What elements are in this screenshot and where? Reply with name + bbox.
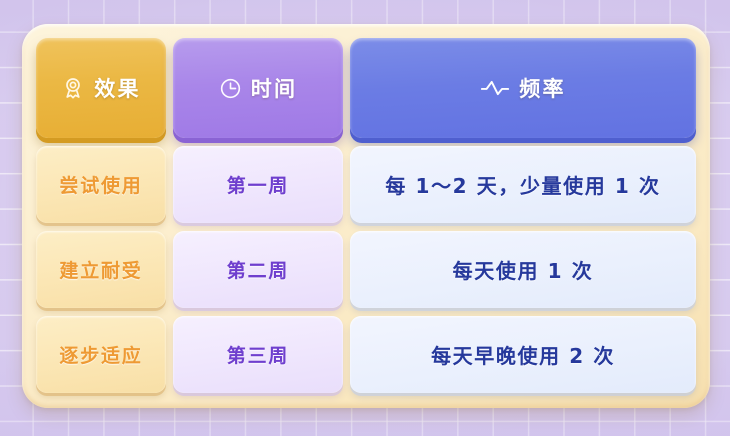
cell-value-time: 第二周 <box>227 256 289 283</box>
header-cell-time[interactable]: 时间 <box>173 38 343 138</box>
cell-value-effect: 尝试使用 <box>59 171 142 198</box>
schedule-table: 效果 时间 频率 尝试使用 第一周 <box>36 38 696 393</box>
cell-effect[interactable]: 建立耐受 <box>36 231 166 308</box>
cell-time[interactable]: 第二周 <box>173 231 343 308</box>
clock-icon <box>219 77 242 100</box>
table-row: 逐步适应 第三周 每天早晚使用 2 次 <box>36 316 696 393</box>
cell-value-time: 第三周 <box>227 341 289 368</box>
cell-frequency[interactable]: 每天使用 1 次 <box>350 231 696 308</box>
cell-value-frequency: 每天早晚使用 2 次 <box>431 340 615 369</box>
cell-frequency[interactable]: 每天早晚使用 2 次 <box>350 316 696 393</box>
cell-value-effect: 建立耐受 <box>59 256 142 283</box>
header-label-time: 时间 <box>251 73 297 103</box>
header-cell-effect[interactable]: 效果 <box>36 38 166 138</box>
cell-value-time: 第一周 <box>227 171 289 198</box>
cell-value-frequency: 每 1～2 天，少量使用 1 次 <box>385 170 660 199</box>
cell-effect[interactable]: 尝试使用 <box>36 146 166 223</box>
cell-time[interactable]: 第三周 <box>173 316 343 393</box>
pulse-wave-icon <box>480 76 510 100</box>
header-label-effect: 效果 <box>94 73 140 103</box>
cell-frequency[interactable]: 每 1～2 天，少量使用 1 次 <box>350 146 696 223</box>
header-label-frequency: 频率 <box>519 73 565 103</box>
cell-value-frequency: 每天使用 1 次 <box>453 255 594 284</box>
cell-effect[interactable]: 逐步适应 <box>36 316 166 393</box>
header-cell-frequency[interactable]: 频率 <box>350 38 696 138</box>
medal-award-icon <box>61 76 85 100</box>
cell-time[interactable]: 第一周 <box>173 146 343 223</box>
cell-value-effect: 逐步适应 <box>59 341 142 368</box>
table-row: 建立耐受 第二周 每天使用 1 次 <box>36 231 696 308</box>
table-row: 尝试使用 第一周 每 1～2 天，少量使用 1 次 <box>36 146 696 223</box>
table-header-row: 效果 时间 频率 <box>36 38 696 138</box>
